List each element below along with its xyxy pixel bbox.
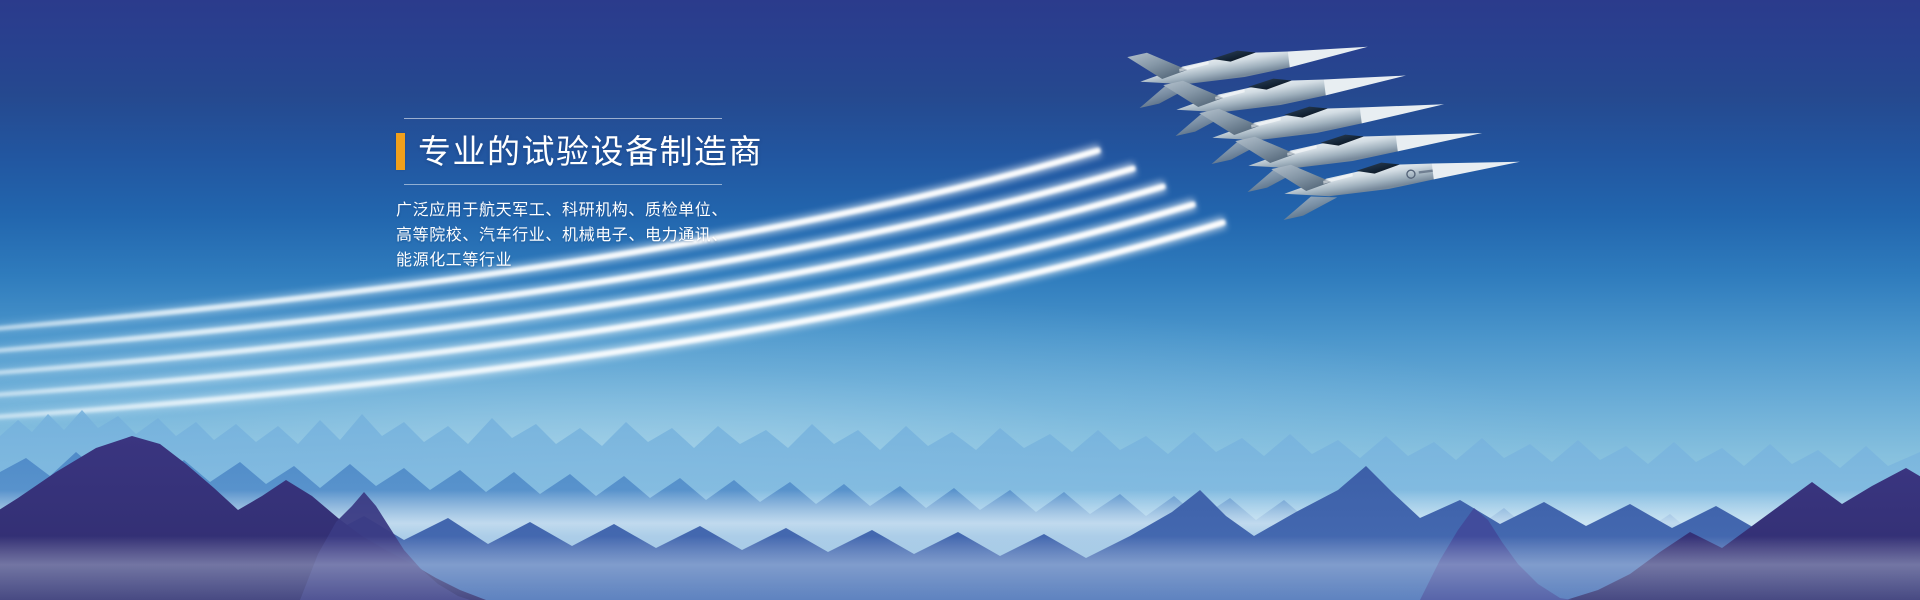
headline-row: 专业的试验设备制造商 [396, 133, 956, 170]
company-hero-banner: 专业的试验设备制造商 广泛应用于航天军工、科研机构、质检单位、 高等院校、汽车行… [0, 0, 1920, 600]
subtitle-line-3: 能源化工等行业 [396, 248, 956, 273]
hero-text-block: 专业的试验设备制造商 广泛应用于航天军工、科研机构、质检单位、 高等院校、汽车行… [396, 118, 956, 273]
subtitle-line-1: 广泛应用于航天军工、科研机构、质检单位、 [396, 198, 956, 223]
rule-above-headline [404, 118, 722, 119]
mountain-silhouettes [0, 340, 1920, 600]
rule-below-headline [404, 184, 722, 185]
accent-bar [396, 133, 405, 170]
page-title: 专业的试验设备制造商 [418, 133, 763, 170]
fighter-jet-formation [1120, 40, 1520, 270]
subtitle-line-2: 高等院校、汽车行业、机械电子、电力通讯、 [396, 223, 956, 248]
